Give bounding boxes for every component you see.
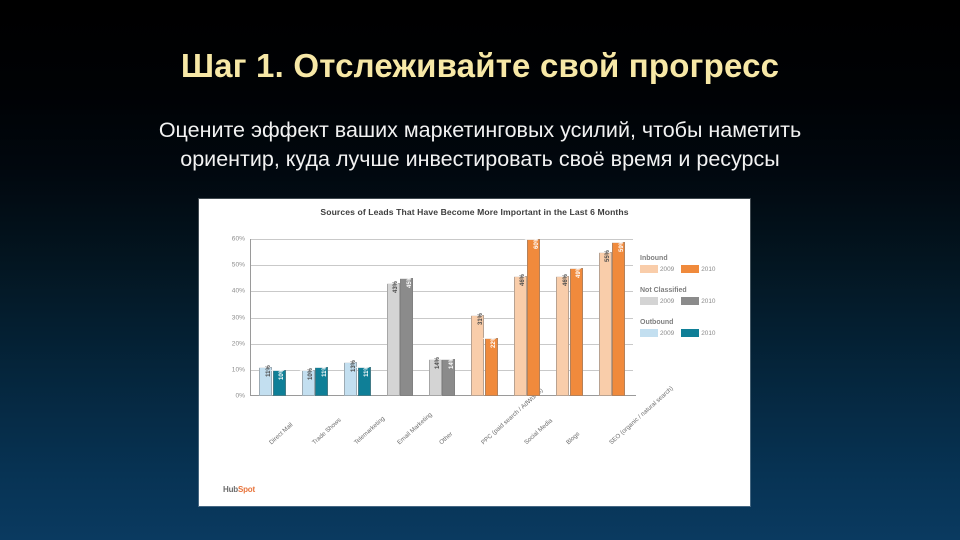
bar-2009: 31% bbox=[471, 315, 484, 396]
bar-2009: 11% bbox=[259, 367, 272, 396]
bar-value-label: 60% bbox=[534, 237, 540, 249]
bar-group: 43%45% bbox=[378, 239, 420, 396]
legend-year-label: 2010 bbox=[701, 330, 715, 337]
bar-group: 55%59% bbox=[591, 239, 633, 396]
legend-year-label: 2009 bbox=[660, 266, 674, 273]
bar-value-label: 45% bbox=[407, 276, 413, 288]
legend-group-title: Outbound bbox=[640, 319, 744, 326]
bar-group: 14%14% bbox=[421, 239, 463, 396]
bar-value-label: 10% bbox=[308, 368, 314, 380]
bar-2009: 43% bbox=[387, 283, 400, 396]
bar-2009: 55% bbox=[599, 252, 612, 396]
chart-title: Sources of Leads That Have Become More I… bbox=[199, 207, 750, 217]
y-axis-tick-label: 20% bbox=[232, 340, 245, 347]
y-axis-tick-label: 30% bbox=[232, 314, 245, 321]
y-axis-tick-label: 40% bbox=[232, 288, 245, 295]
bar-value-label: 11% bbox=[322, 365, 328, 377]
legend-group: Inbound20092010 bbox=[640, 255, 744, 273]
bar-value-label: 49% bbox=[576, 266, 582, 278]
bar-value-label: 46% bbox=[563, 274, 569, 286]
bar-2009: 14% bbox=[429, 359, 442, 396]
chart-legend: Inbound20092010Not Classified20092010Out… bbox=[640, 255, 744, 351]
bar-2009: 46% bbox=[514, 276, 527, 396]
bar-2010: 60% bbox=[527, 239, 540, 396]
bar-2010: 59% bbox=[612, 242, 625, 396]
slide-subtitle-line-2: ориентир, куда лучше инвестировать своё … bbox=[100, 145, 860, 174]
slide-subtitle: Оцените эффект ваших маркетинговых усили… bbox=[100, 116, 860, 174]
x-axis-tick-label: Email Marketing bbox=[396, 411, 434, 446]
legend-year-label: 2010 bbox=[701, 266, 715, 273]
bar-group: 10%11% bbox=[293, 239, 335, 396]
legend-group-title: Not Classified bbox=[640, 287, 744, 294]
legend-swatch bbox=[681, 265, 699, 273]
legend-swatch bbox=[640, 329, 658, 337]
legend-row: 20092010 bbox=[640, 265, 744, 273]
bar-value-label: 14% bbox=[449, 357, 455, 369]
legend-group: Outbound20092010 bbox=[640, 319, 744, 337]
bar-value-label: 22% bbox=[491, 336, 497, 348]
bar-2009: 10% bbox=[302, 370, 315, 396]
y-axis-tick-label: 50% bbox=[232, 262, 245, 269]
slide-subtitle-line-1: Оцените эффект ваших маркетинговых усили… bbox=[100, 116, 860, 145]
legend-year-label: 2009 bbox=[660, 330, 674, 337]
page-title: Шаг 1. Отслеживайте свой прогресс bbox=[0, 47, 960, 85]
bar-value-label: 10% bbox=[279, 368, 285, 380]
y-axis-tick-label: 0% bbox=[235, 393, 245, 400]
bar-value-label: 55% bbox=[605, 250, 611, 262]
bar-value-label: 46% bbox=[520, 274, 526, 286]
x-axis-tick-label: Telemarketing bbox=[353, 415, 386, 446]
legend-group-title: Inbound bbox=[640, 255, 744, 262]
bar-2010: 10% bbox=[273, 370, 286, 396]
bar-2010: 45% bbox=[400, 278, 413, 396]
bar-value-label: 31% bbox=[478, 313, 484, 325]
presentation-slide: Шаг 1. Отслеживайте свой прогресс Оценит… bbox=[0, 0, 960, 540]
bar-2010: 22% bbox=[485, 338, 498, 396]
bar-value-label: 11% bbox=[266, 365, 272, 377]
legend-year-label: 2009 bbox=[660, 298, 674, 305]
legend-swatch bbox=[681, 297, 699, 305]
bar-2009: 46% bbox=[556, 276, 569, 396]
x-axis-tick-label: Other bbox=[438, 431, 454, 447]
bar-group: 31%22% bbox=[463, 239, 505, 396]
bar-group: 11%10% bbox=[251, 239, 293, 396]
x-axis-tick-label: Direct Mail bbox=[268, 421, 294, 446]
bar-2010: 49% bbox=[570, 268, 583, 396]
bar-value-label: 59% bbox=[619, 240, 625, 252]
x-axis-tick-label: Blogs bbox=[565, 431, 581, 447]
bar-2010: 11% bbox=[358, 367, 371, 396]
hubspot-logo-mark: Spot bbox=[238, 485, 255, 494]
chart-plot-area: 0%10%20%30%40%50%60%11%10%Direct Mail10%… bbox=[251, 239, 633, 396]
bar-2010: 11% bbox=[315, 367, 328, 396]
bar-2010: 14% bbox=[442, 359, 455, 396]
legend-swatch bbox=[640, 297, 658, 305]
bar-value-label: 43% bbox=[393, 281, 399, 293]
legend-row: 20092010 bbox=[640, 297, 744, 305]
y-axis-tick-label: 10% bbox=[232, 366, 245, 373]
bar-group: 13%11% bbox=[336, 239, 378, 396]
legend-row: 20092010 bbox=[640, 329, 744, 337]
bar-group: 46%60% bbox=[506, 239, 548, 396]
legend-group: Not Classified20092010 bbox=[640, 287, 744, 305]
legend-swatch bbox=[640, 265, 658, 273]
x-axis-tick-label: Social Media bbox=[523, 417, 554, 446]
legend-swatch bbox=[681, 329, 699, 337]
y-axis-tick-label: 60% bbox=[232, 236, 245, 243]
bar-value-label: 11% bbox=[364, 365, 370, 377]
legend-year-label: 2010 bbox=[701, 298, 715, 305]
bar-group: 46%49% bbox=[548, 239, 590, 396]
x-axis-tick-label: Trade Shows bbox=[311, 417, 343, 446]
chart-image-panel: Sources of Leads That Have Become More I… bbox=[199, 199, 750, 506]
hubspot-logo: HubSpot bbox=[223, 485, 255, 494]
